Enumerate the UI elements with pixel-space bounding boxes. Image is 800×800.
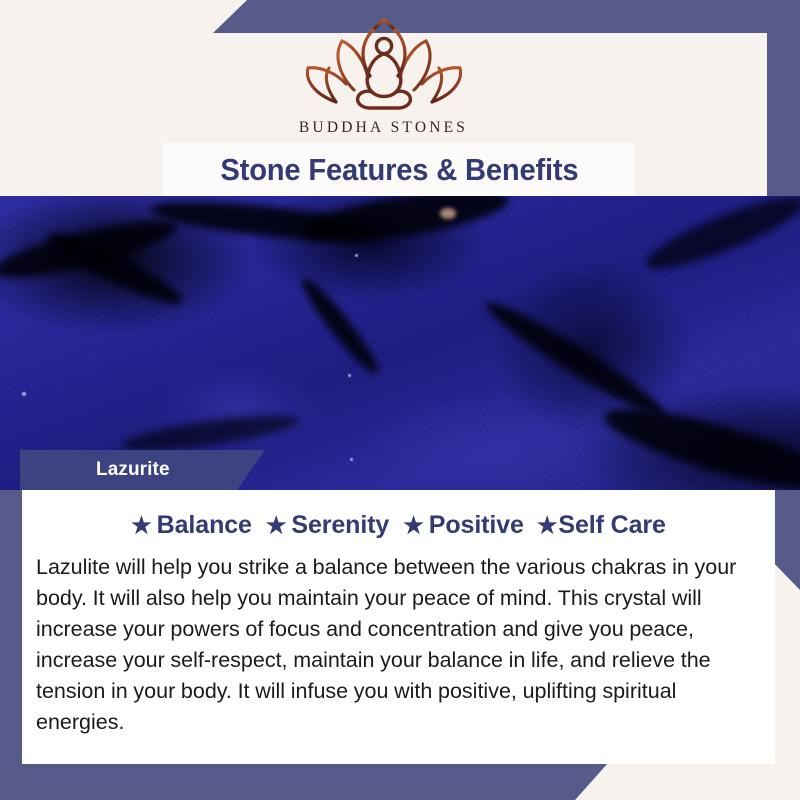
brand-logo: BUDDHA STONES <box>0 18 767 137</box>
benefit-balance: ★ Balance <box>131 511 252 540</box>
benefits-row: ★ Balance ★ Serenity ★ Positive ★ Self C… <box>22 511 775 540</box>
page-title: Stone Features & Benefits <box>220 152 578 188</box>
stone-name-label: Lazurite <box>96 459 170 481</box>
star-icon: ★ <box>131 514 152 537</box>
accent-bar-bottom <box>0 763 608 800</box>
lotus-meditation-icon <box>296 18 472 116</box>
accent-bar-left <box>0 455 22 800</box>
star-icon: ★ <box>403 514 424 537</box>
benefit-label: Self Care <box>558 511 666 540</box>
stone-glint <box>350 458 353 461</box>
stone-glint <box>355 254 358 257</box>
title-panel: Stone Features & Benefits <box>163 143 635 196</box>
benefit-self-care: ★ Self Care <box>537 511 666 540</box>
benefit-serenity: ★ Serenity <box>266 511 389 540</box>
stone-description: Lazulite will help you strike a balance … <box>36 552 761 738</box>
stone-glint <box>348 374 351 377</box>
stone-inclusion <box>440 208 456 219</box>
brand-name: BUDDHA STONES <box>299 119 468 137</box>
star-icon: ★ <box>266 514 287 537</box>
benefit-label: Serenity <box>291 511 389 540</box>
benefit-label: Balance <box>157 511 252 540</box>
stone-name-banner: Lazurite <box>20 450 265 490</box>
benefit-label: Positive <box>429 511 524 540</box>
content-card: ★ Balance ★ Serenity ★ Positive ★ Self C… <box>22 490 775 764</box>
stone-glint <box>22 392 26 396</box>
benefit-positive: ★ Positive <box>403 511 524 540</box>
stone-photo <box>0 196 800 490</box>
star-icon: ★ <box>537 514 558 537</box>
poster-canvas: BUDDHA STONES Stone Features & Benefits … <box>0 0 800 800</box>
